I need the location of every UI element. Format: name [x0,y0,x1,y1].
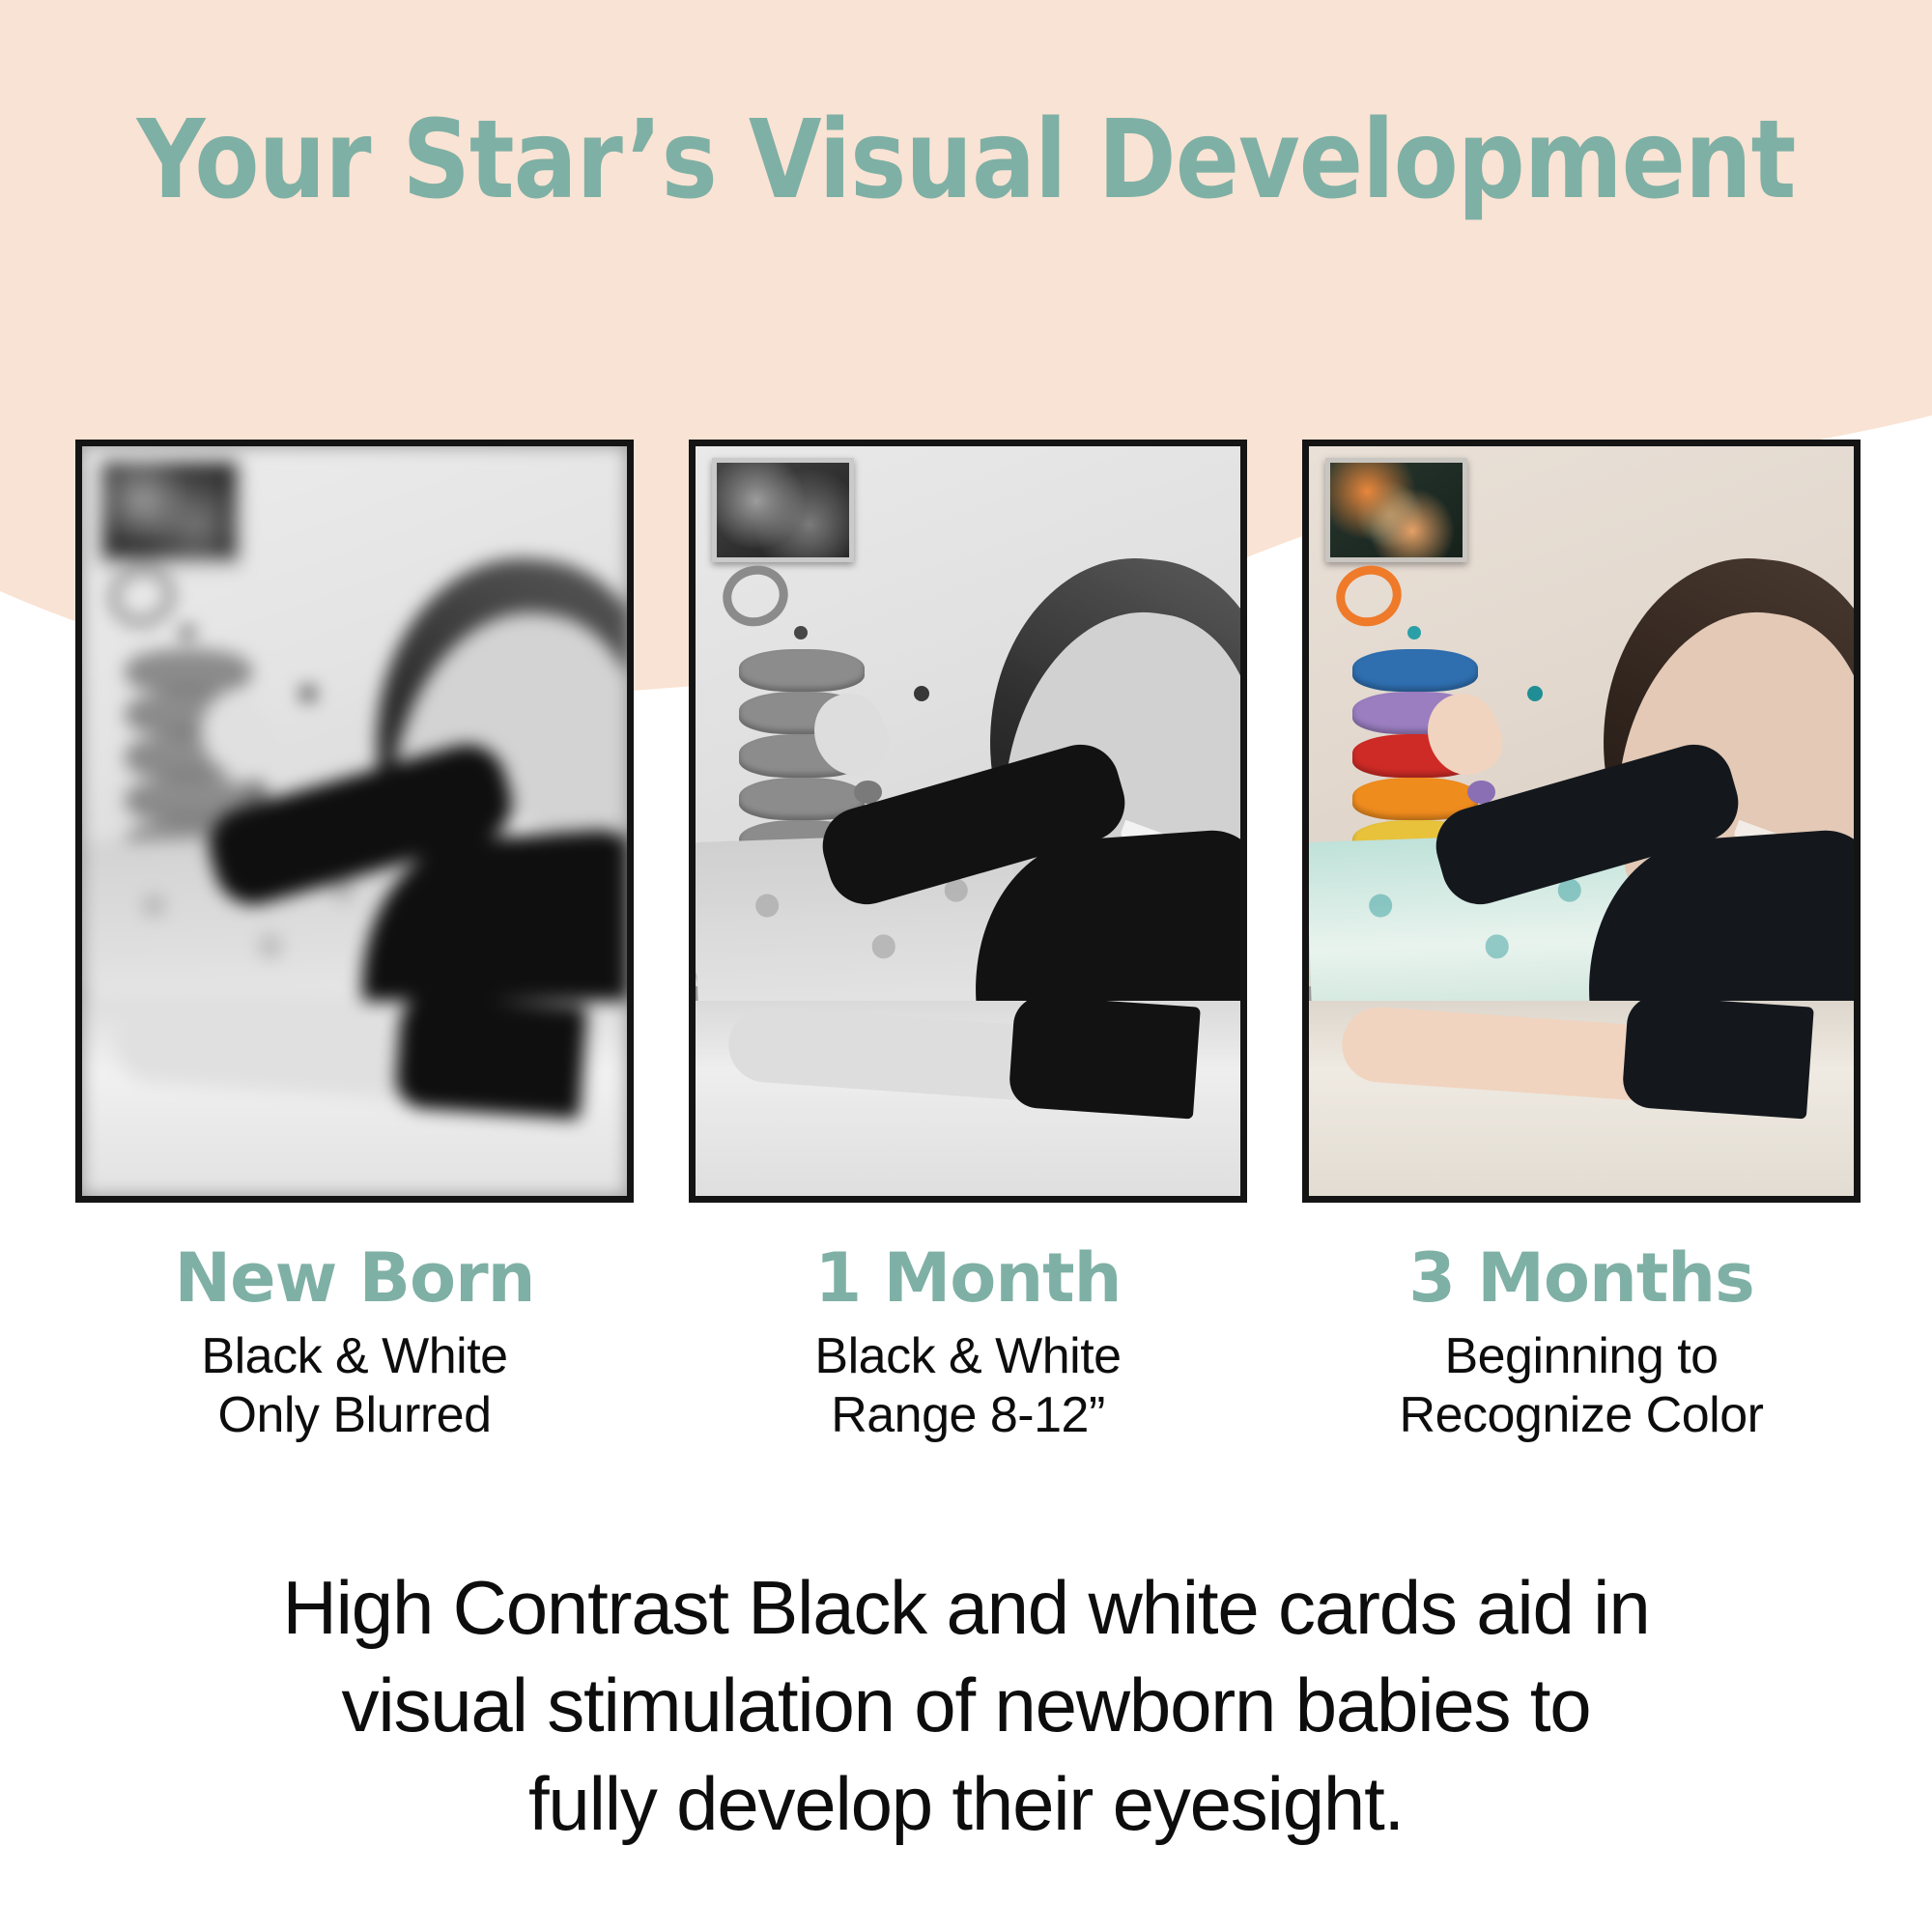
wall-picture-image [1330,463,1463,558]
mother-sleeve [394,995,586,1120]
footer-paragraph: High Contrast Black and white cards aid … [97,1559,1835,1853]
mat-pattern-dot [258,934,282,958]
play-gym-bead-two [181,626,194,639]
footer-paragraph-line-1: High Contrast Black and white cards aid … [97,1559,1835,1657]
mother-sleeve [1621,995,1813,1120]
stage-caption-row: New Born Black & White Only Blurred 1 Mo… [75,1244,1861,1446]
wall-picture-frame [1325,458,1467,563]
stage-subtitle-line-1: Black & White [75,1327,634,1386]
stage-subtitle-line-1: Black & White [689,1327,1247,1386]
play-gym-bead-two [794,626,808,639]
page-title-text: Your Star’s Visual Development [137,98,1796,223]
stage-subtitle-line-1: Beginning to [1302,1327,1861,1386]
mat-pattern-dot [755,893,780,917]
one-month-vision-photo [689,440,1247,1203]
play-gym-bead-one [300,686,316,701]
stage-caption-three-months: 3 Months Beginning to Recognize Color [1302,1244,1861,1446]
mother-sleeve [1008,995,1200,1120]
wall-picture-image [103,463,236,558]
stage-caption-one-month: 1 Month Black & White Range 8-12” [689,1244,1247,1446]
one-month-photo-scene [696,446,1240,1196]
stage-subtitle-line-2: Only Blurred [75,1386,634,1445]
stage-title-three-months: 3 Months [1302,1244,1861,1312]
mat-pattern-dot [871,934,895,958]
stage-subtitle-line-2: Recognize Color [1302,1386,1861,1445]
mat-pattern-dot [1369,893,1393,917]
wall-picture-image [717,463,849,558]
mat-pattern-dot [142,893,166,917]
newborn-photo-scene [82,446,627,1196]
vision-stage-photo-row [75,440,1861,1203]
stage-subtitle-one-month: Black & White Range 8-12” [689,1327,1247,1446]
three-month-vision-photo [1302,440,1861,1203]
footer-paragraph-line-3: fully develop their eyesight. [97,1755,1835,1853]
play-gym-bead-one [914,686,929,701]
wall-picture-frame [712,458,854,563]
toy-segment [1352,649,1478,692]
toy-segment [126,649,251,692]
mat-pattern-dot [1485,934,1509,958]
newborn-vision-photo [75,440,634,1203]
stage-subtitle-line-2: Range 8-12” [689,1386,1247,1445]
stage-title-one-month: 1 Month [689,1244,1247,1312]
stage-subtitle-three-months: Beginning to Recognize Color [1302,1327,1861,1446]
stage-title-newborn: New Born [75,1244,634,1312]
toy-segment [739,649,865,692]
stage-subtitle-newborn: Black & White Only Blurred [75,1327,634,1446]
footer-paragraph-line-2: visual stimulation of newborn babies to [97,1657,1835,1754]
play-gym-bead-two [1407,626,1421,639]
three-month-photo-scene [1309,446,1854,1196]
wall-picture-frame [99,458,241,563]
play-gym-bead-one [1527,686,1543,701]
page-title: Your Star’s Visual Development [29,104,1903,218]
stage-caption-newborn: New Born Black & White Only Blurred [75,1244,634,1446]
